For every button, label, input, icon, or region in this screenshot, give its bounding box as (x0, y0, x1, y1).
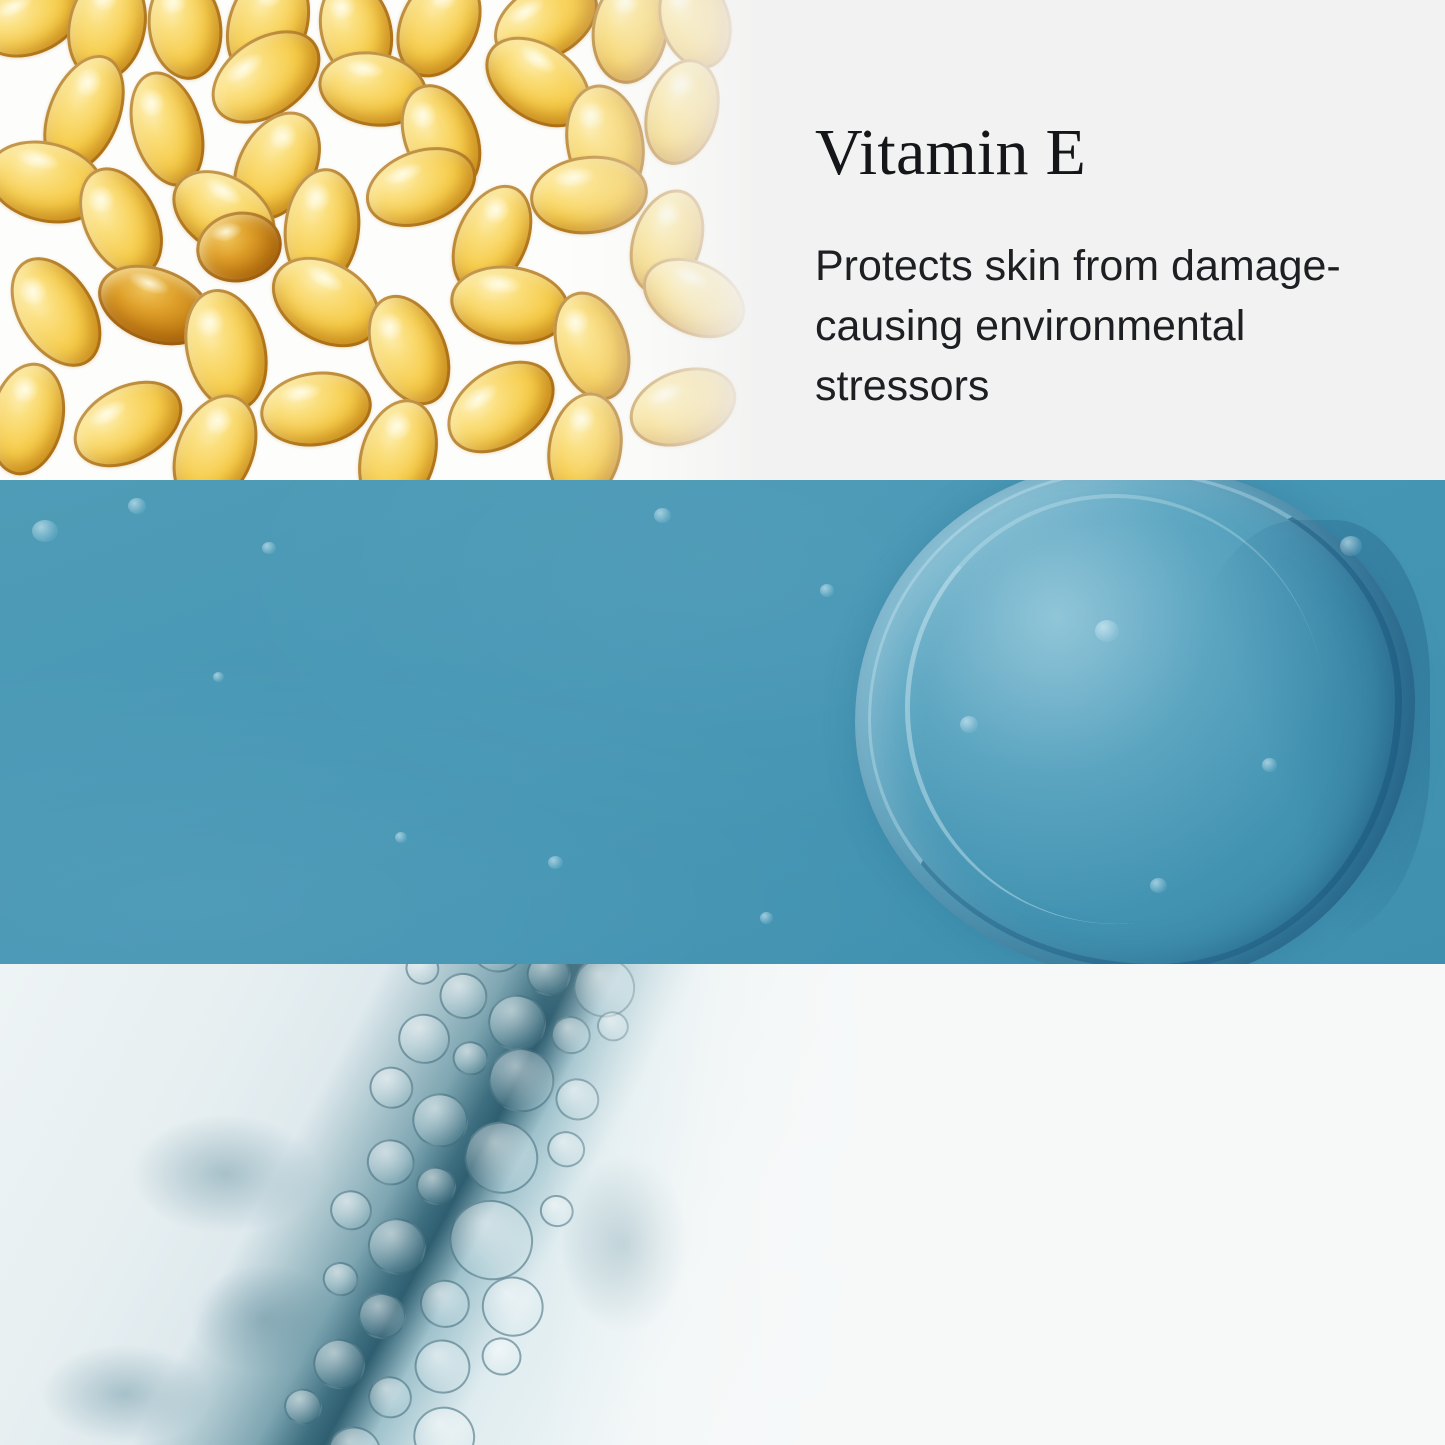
vitamin-e-softgel-capsules-photo (0, 0, 760, 480)
text-block-vitamin-e: Vitamin E Protects skin from damage-caus… (815, 118, 1395, 416)
ingredient-description-vitamin-e: Protects skin from damage-causing enviro… (815, 236, 1375, 416)
hyaluronic-acid-gel-droplet-photo (0, 480, 1445, 964)
section-special-grade-niacinamide: Special-Grade Niacinamide Protects skin … (0, 964, 1445, 1445)
section-vitamin-e: Vitamin E Protects skin from damage-caus… (0, 0, 1445, 480)
bubble-cluster (242, 964, 718, 1445)
niacinamide-bubble-macro-photo (0, 964, 880, 1445)
section-hyaluronic-acid: Hyaluronic Acid Promotes glowing skin wi… (0, 480, 1445, 964)
ingredient-title-vitamin-e: Vitamin E (815, 118, 1395, 188)
ingredient-benefits-infographic: Vitamin E Protects skin from damage-caus… (0, 0, 1445, 1445)
